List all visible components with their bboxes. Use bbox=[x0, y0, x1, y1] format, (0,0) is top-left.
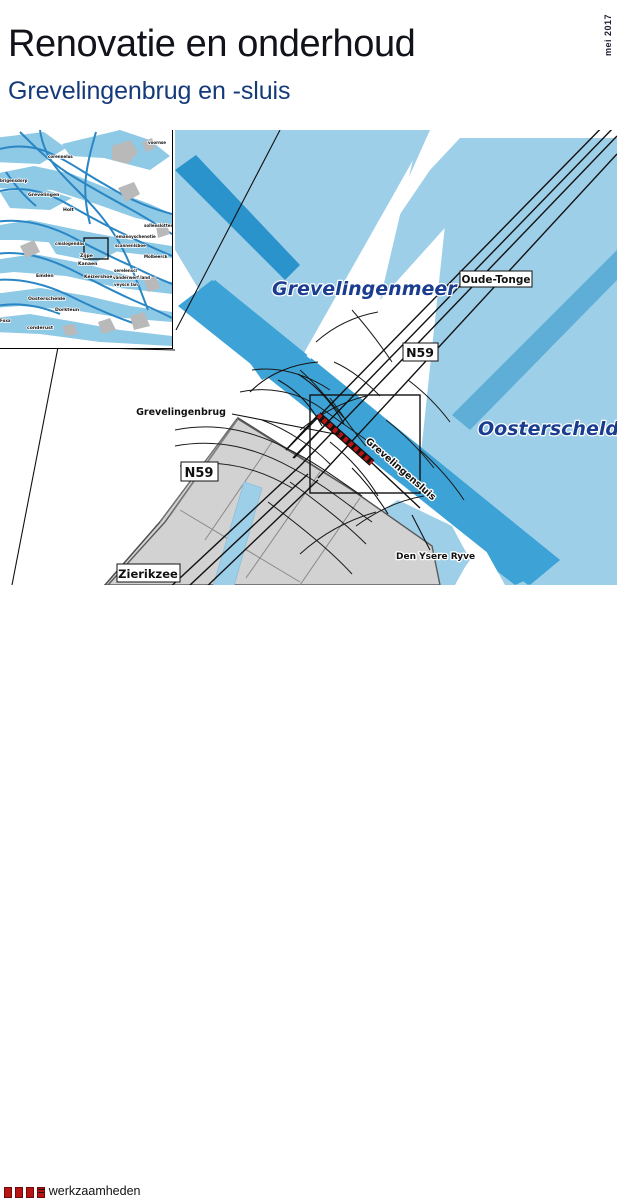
svg-text:Zijpe: Zijpe bbox=[80, 253, 93, 259]
svg-text:Kanaen: Kanaen bbox=[78, 261, 97, 267]
svg-text:scannenlsboe: scannenlsboe bbox=[115, 243, 146, 248]
header-banner: Renovatie en onderhoud Grevelingenbrug e… bbox=[0, 0, 617, 130]
boxed-label-zierikzee-text: Zierikzee bbox=[118, 567, 178, 581]
feature-label-grevelingenbrug: Grevelingenbrug bbox=[136, 407, 226, 418]
svg-text:sollenslotter: sollenslotter bbox=[144, 223, 172, 228]
water-label-oosterschelde: Oosterschelde bbox=[478, 418, 617, 440]
svg-text:cmslogendas: cmslogendas bbox=[55, 241, 85, 246]
svg-text:corennelus: corennelus bbox=[48, 154, 73, 159]
date-stamp: mei 2017 bbox=[603, 14, 613, 56]
svg-text:emanoyschenotie: emanoyschenotie bbox=[116, 234, 156, 239]
page-subtitle: Grevelingenbrug en -sluis bbox=[8, 76, 290, 106]
svg-text:conderust: conderust bbox=[27, 325, 54, 331]
legend-label: = werkzaamheden bbox=[38, 1184, 141, 1198]
svg-text:Foxa: Foxa bbox=[0, 318, 11, 323]
page-title: Renovatie en onderhoud bbox=[8, 22, 415, 66]
svg-text:veyscn lan: veyscn lan bbox=[114, 282, 138, 287]
legend-square-1 bbox=[4, 1187, 12, 1198]
feature-label-den-ysere-ryve: Den Ysere Ryve bbox=[396, 552, 475, 562]
boxed-label-oude-tonge: Oude-Tonge bbox=[460, 271, 532, 287]
svg-text:brigensdorp: brigensdorp bbox=[0, 178, 28, 183]
boxed-label-n59-south: N59 bbox=[181, 462, 218, 481]
inset-overview-map[interactable]: voornse corennelus brigensdorp Greveling… bbox=[0, 130, 173, 349]
water-label-grevelingenmeer: Grevelingenmeer bbox=[272, 278, 458, 300]
boxed-label-n59-north-text: N59 bbox=[406, 345, 434, 360]
svg-text:Oosterschelde: Oosterschelde bbox=[28, 296, 65, 302]
boxed-label-n59-north: N59 bbox=[403, 343, 438, 361]
svg-text:Dorkteun: Dorkteun bbox=[55, 307, 79, 313]
svg-text:Molbeerck: Molbeerck bbox=[144, 254, 168, 259]
svg-text:Grevelingen: Grevelingen bbox=[28, 192, 59, 198]
legend-square-3 bbox=[26, 1187, 34, 1198]
svg-text:Holt: Holt bbox=[63, 207, 75, 213]
svg-text:vanderwerf land: vanderwerf land bbox=[113, 275, 150, 280]
boxed-label-zierikzee: Zierikzee bbox=[117, 564, 180, 582]
svg-text:Emden: Emden bbox=[36, 273, 54, 279]
boxed-label-oude-tonge-text: Oude-Tonge bbox=[462, 274, 531, 286]
svg-text:voornse: voornse bbox=[148, 140, 166, 145]
legend-square-2 bbox=[15, 1187, 23, 1198]
svg-text:serelenscl: serelenscl bbox=[114, 268, 137, 273]
legend: = werkzaamheden bbox=[0, 590, 617, 618]
boxed-label-n59-south-text: N59 bbox=[185, 466, 214, 481]
